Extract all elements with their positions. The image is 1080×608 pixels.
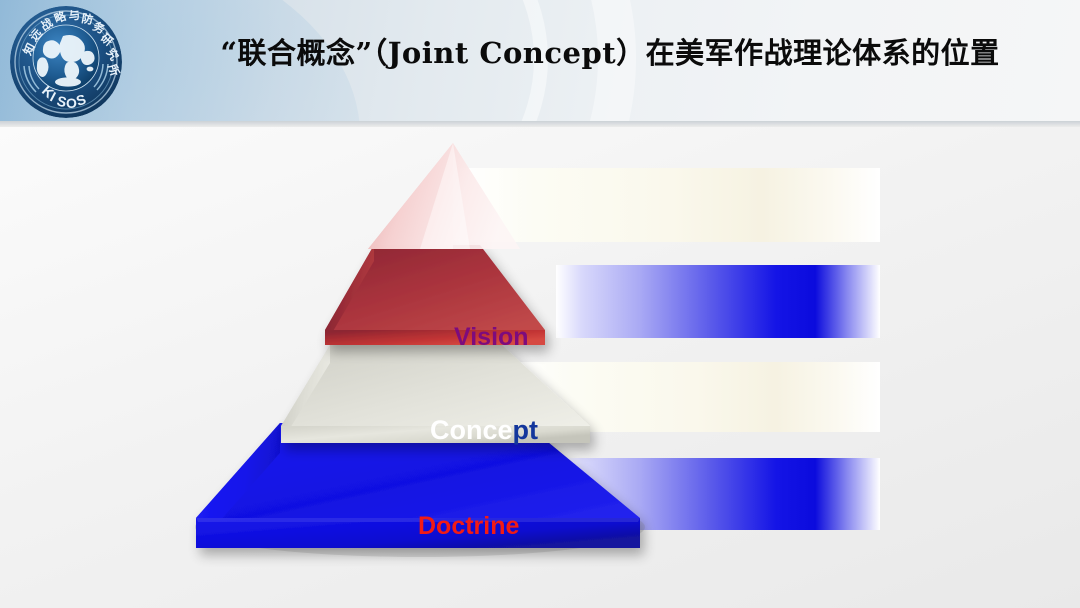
bar-vision [460,168,880,242]
kisos-logo: 知 远 战 略 与 防 务 研 究 所 K I S O S [10,6,122,118]
tier-doctrine [281,345,590,443]
tier-manual-bevel [196,518,640,522]
tier-concept [325,245,545,345]
tier-concept-front [325,330,545,345]
bar-concept [556,265,880,338]
tier-manual-front [196,518,640,548]
logo-ring-char: 与 [68,8,81,23]
pyramid-diagram [0,127,1080,608]
page-title: “联合概念”（Joint Concept）在美军作战理论体系的位置 [150,36,1070,71]
slide-header: 知 远 战 略 与 防 务 研 究 所 K I S O S [0,0,1080,121]
tier-doctrine-front [281,426,590,443]
slide-root: 知 远 战 略 与 防 务 研 究 所 K I S O S [0,0,1080,608]
slide-body: Vision Concept Doctrine manual/handbook [0,127,1080,608]
